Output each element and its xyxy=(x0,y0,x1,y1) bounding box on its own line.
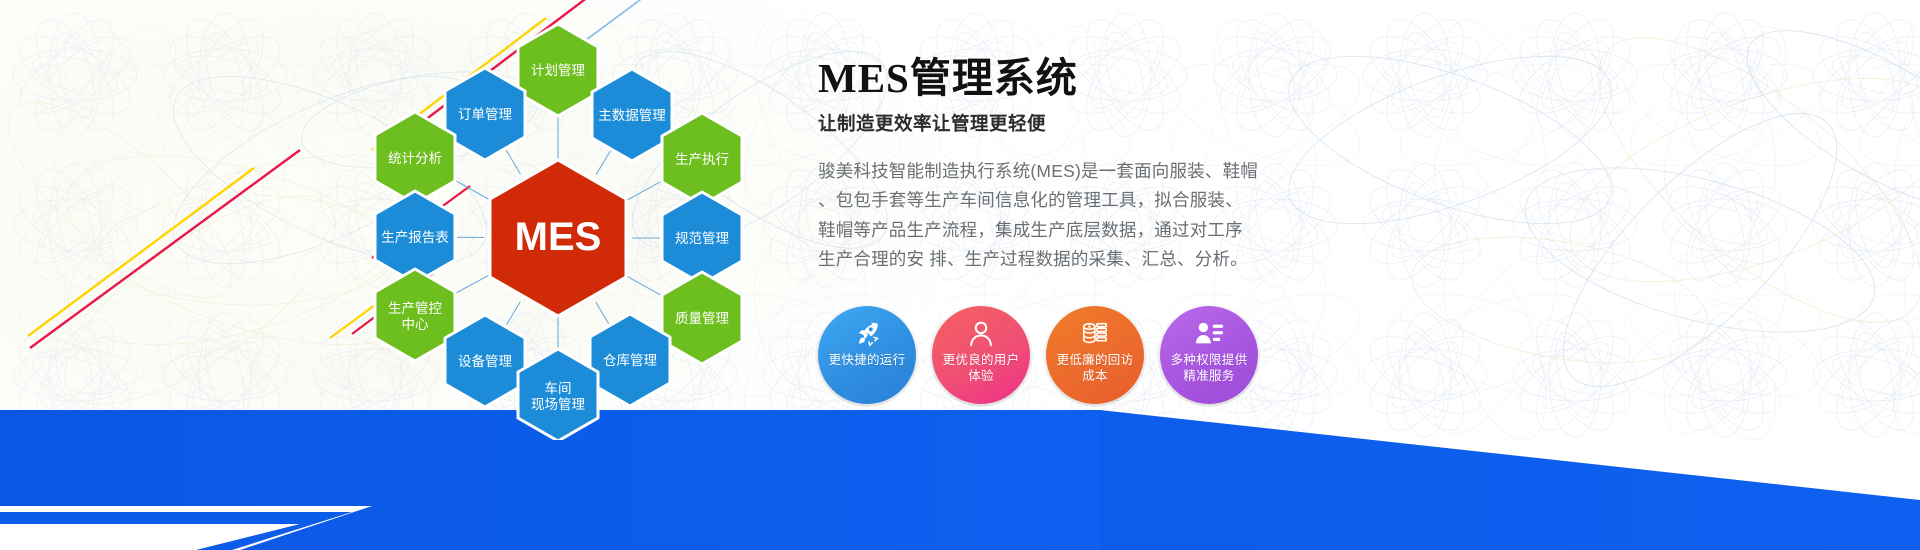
banner-stage: 计划管理订单管理主数据管理统计分析生产执行生产报告表规范管理生产管控中心质量管理… xyxy=(0,0,1920,550)
hex-connector-line xyxy=(623,274,666,298)
headline-block: MES管理系统 让制造更效率让管理更轻便 骏美科技智能制造执行系统(MES)是一… xyxy=(818,56,1288,275)
hex-node-label: 规范管理 xyxy=(675,231,729,246)
description-paragraph: 骏美科技智能制造执行系统(MES)是一套面向服装、鞋帽、包包手套等生产车间信息化… xyxy=(818,157,1288,275)
hex-node-label: 生产报告表 xyxy=(381,230,449,245)
feature-badge-row: 更快捷的运行更优良的用户体验¥更低廉的回访成本多种权限提供精准服务 xyxy=(818,306,1258,404)
hex-node[interactable]: 主数据管理 xyxy=(592,69,672,161)
badge-ring xyxy=(927,301,1035,409)
hex-connector-line xyxy=(596,302,609,324)
hex-connector-line xyxy=(623,179,665,202)
hex-center-label: MES xyxy=(515,215,602,259)
hex-connector-line xyxy=(506,302,520,325)
page-title: MES管理系统 xyxy=(818,56,1288,102)
hex-node-label: 仓库管理 xyxy=(603,353,657,368)
hex-node[interactable]: 车间现场管理 xyxy=(518,349,598,440)
hex-connector-line xyxy=(596,151,610,175)
mes-hex-diagram: 计划管理订单管理主数据管理统计分析生产执行生产报告表规范管理生产管控中心质量管理… xyxy=(330,10,800,440)
description-line: 骏美科技智能制造执行系统(MES)是一套面向服装、鞋帽 xyxy=(818,157,1288,187)
hex-connector-line xyxy=(452,179,494,202)
hex-connector-line xyxy=(506,150,520,174)
hex-node-label: 主数据管理 xyxy=(598,108,666,123)
feature-badge[interactable]: 多种权限提供精准服务 xyxy=(1160,306,1258,404)
badge-ring xyxy=(813,301,921,409)
description-line: 鞋帽等产品生产流程，集成生产底层数据，通过对工序 xyxy=(818,216,1288,246)
hex-node-label: 质量管理 xyxy=(675,311,729,326)
badge-ring xyxy=(1155,301,1263,409)
hex-node[interactable]: 生产管控中心 xyxy=(375,269,455,361)
hex-node-label: 统计分析 xyxy=(388,151,442,166)
hex-node-label: 生产执行 xyxy=(675,152,729,167)
badge-ring xyxy=(1041,301,1149,409)
hex-node-label: 计划管理 xyxy=(531,63,585,78)
feature-badge[interactable]: ¥更低廉的回访成本 xyxy=(1046,306,1144,404)
description-line: 、包包手套等生产车间信息化的管理工具，拟合服装、 xyxy=(818,186,1288,216)
hex-connector-line xyxy=(452,273,493,295)
hex-node[interactable]: 质量管理 xyxy=(662,272,742,364)
hex-node[interactable]: 规范管理 xyxy=(662,192,742,284)
page-subtitle: 让制造更效率让管理更轻便 xyxy=(818,110,1288,136)
hex-node[interactable]: 设备管理 xyxy=(445,315,525,407)
hex-node[interactable]: 仓库管理 xyxy=(590,314,670,406)
hex-node[interactable]: 计划管理 xyxy=(518,24,598,116)
hex-node[interactable]: 订单管理 xyxy=(445,68,525,160)
hex-node-label: 订单管理 xyxy=(458,107,512,122)
description-line: 生产合理的安 排、生产过程数据的采集、汇总、分析。 xyxy=(818,245,1288,275)
feature-badge[interactable]: 更快捷的运行 xyxy=(818,306,916,404)
hex-node-label: 设备管理 xyxy=(458,353,512,369)
feature-badge[interactable]: 更优良的用户体验 xyxy=(932,306,1030,404)
hex-node-center[interactable]: MES xyxy=(490,160,626,316)
